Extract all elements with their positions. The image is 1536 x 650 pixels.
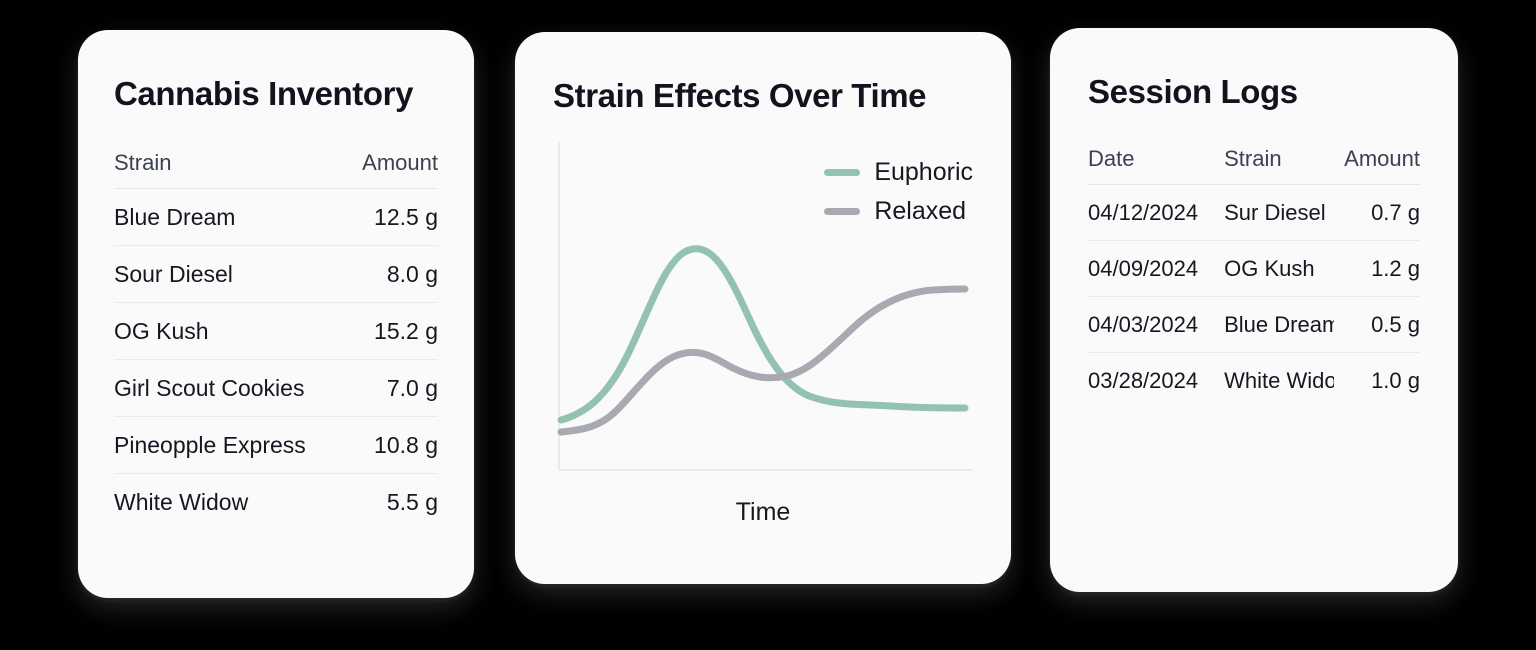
logs-header-row: Date Strain Amount [1088,146,1420,185]
log-date: 04/03/2024 [1088,296,1224,352]
inventory-col-strain: Strain [114,150,308,189]
chart-title: Strain Effects Over Time [553,32,973,116]
inventory-amount: 7.0 g [308,359,438,416]
session-logs-table: Date Strain Amount 04/12/2024 Sur Diesel… [1088,146,1420,408]
table-row[interactable]: Girl Scout Cookies 7.0 g [114,359,438,416]
log-amount: 0.7 g [1334,184,1420,240]
log-date: 04/09/2024 [1088,240,1224,296]
log-amount: 1.0 g [1334,352,1420,408]
strain-effects-chart-card: Strain Effects Over Time Euphoric [515,32,1011,584]
table-row[interactable]: 03/28/2024 White Widow 1.0 g [1088,352,1420,408]
inventory-strain: Sour Diesel [114,245,308,302]
legend-label-relaxed: Relaxed [874,197,966,226]
legend-swatch-euphoric [824,169,860,176]
x-axis-label: Time [553,498,973,527]
legend-swatch-relaxed [824,208,860,215]
table-row[interactable]: Sour Diesel 8.0 g [114,245,438,302]
table-row[interactable]: 04/03/2024 Blue Dream 0.5 g [1088,296,1420,352]
log-strain: Sur Diesel [1224,184,1334,240]
series-euphoric-path [561,248,965,419]
table-row[interactable]: White Widow 5.5 g [114,473,438,530]
log-strain: OG Kush [1224,240,1334,296]
inventory-amount: 8.0 g [308,245,438,302]
log-strain: White Widow [1224,352,1334,408]
cannabis-inventory-card: Cannabis Inventory Strain Amount Blue Dr… [78,30,474,598]
inventory-amount: 5.5 g [308,473,438,530]
inventory-strain: OG Kush [114,302,308,359]
log-amount: 1.2 g [1334,240,1420,296]
inventory-strain: Blue Dream [114,188,308,245]
chart-legend: Euphoric Relaxed [824,158,973,226]
inventory-amount: 10.8 g [308,416,438,473]
legend-label-euphoric: Euphoric [874,158,973,187]
legend-item-euphoric[interactable]: Euphoric [824,158,973,187]
legend-item-relaxed[interactable]: Relaxed [824,197,973,226]
session-logs-card: Session Logs Date Strain Amount 04/12/20… [1050,28,1458,592]
table-row[interactable]: OG Kush 15.2 g [114,302,438,359]
inventory-amount: 15.2 g [308,302,438,359]
inventory-header-row: Strain Amount [114,150,438,189]
inventory-col-amount: Amount [308,150,438,189]
dashboard-stage: Cannabis Inventory Strain Amount Blue Dr… [0,0,1536,650]
logs-col-strain: Strain [1224,146,1334,185]
table-row[interactable]: 04/09/2024 OG Kush 1.2 g [1088,240,1420,296]
log-date: 03/28/2024 [1088,352,1224,408]
inventory-strain: Girl Scout Cookies [114,359,308,416]
log-strain: Blue Dream [1224,296,1334,352]
log-date: 04/12/2024 [1088,184,1224,240]
inventory-strain: White Widow [114,473,308,530]
line-chart: Euphoric Relaxed [553,142,973,482]
inventory-title: Cannabis Inventory [114,30,438,114]
logs-col-amount: Amount [1334,146,1420,185]
logs-col-date: Date [1088,146,1224,185]
log-amount: 0.5 g [1334,296,1420,352]
table-row[interactable]: 04/12/2024 Sur Diesel 0.7 g [1088,184,1420,240]
inventory-strain: Pineopple Express [114,416,308,473]
inventory-table: Strain Amount Blue Dream 12.5 g Sour Die… [114,150,438,530]
inventory-amount: 12.5 g [308,188,438,245]
table-row[interactable]: Pineopple Express 10.8 g [114,416,438,473]
table-row[interactable]: Blue Dream 12.5 g [114,188,438,245]
logs-title: Session Logs [1088,28,1420,112]
